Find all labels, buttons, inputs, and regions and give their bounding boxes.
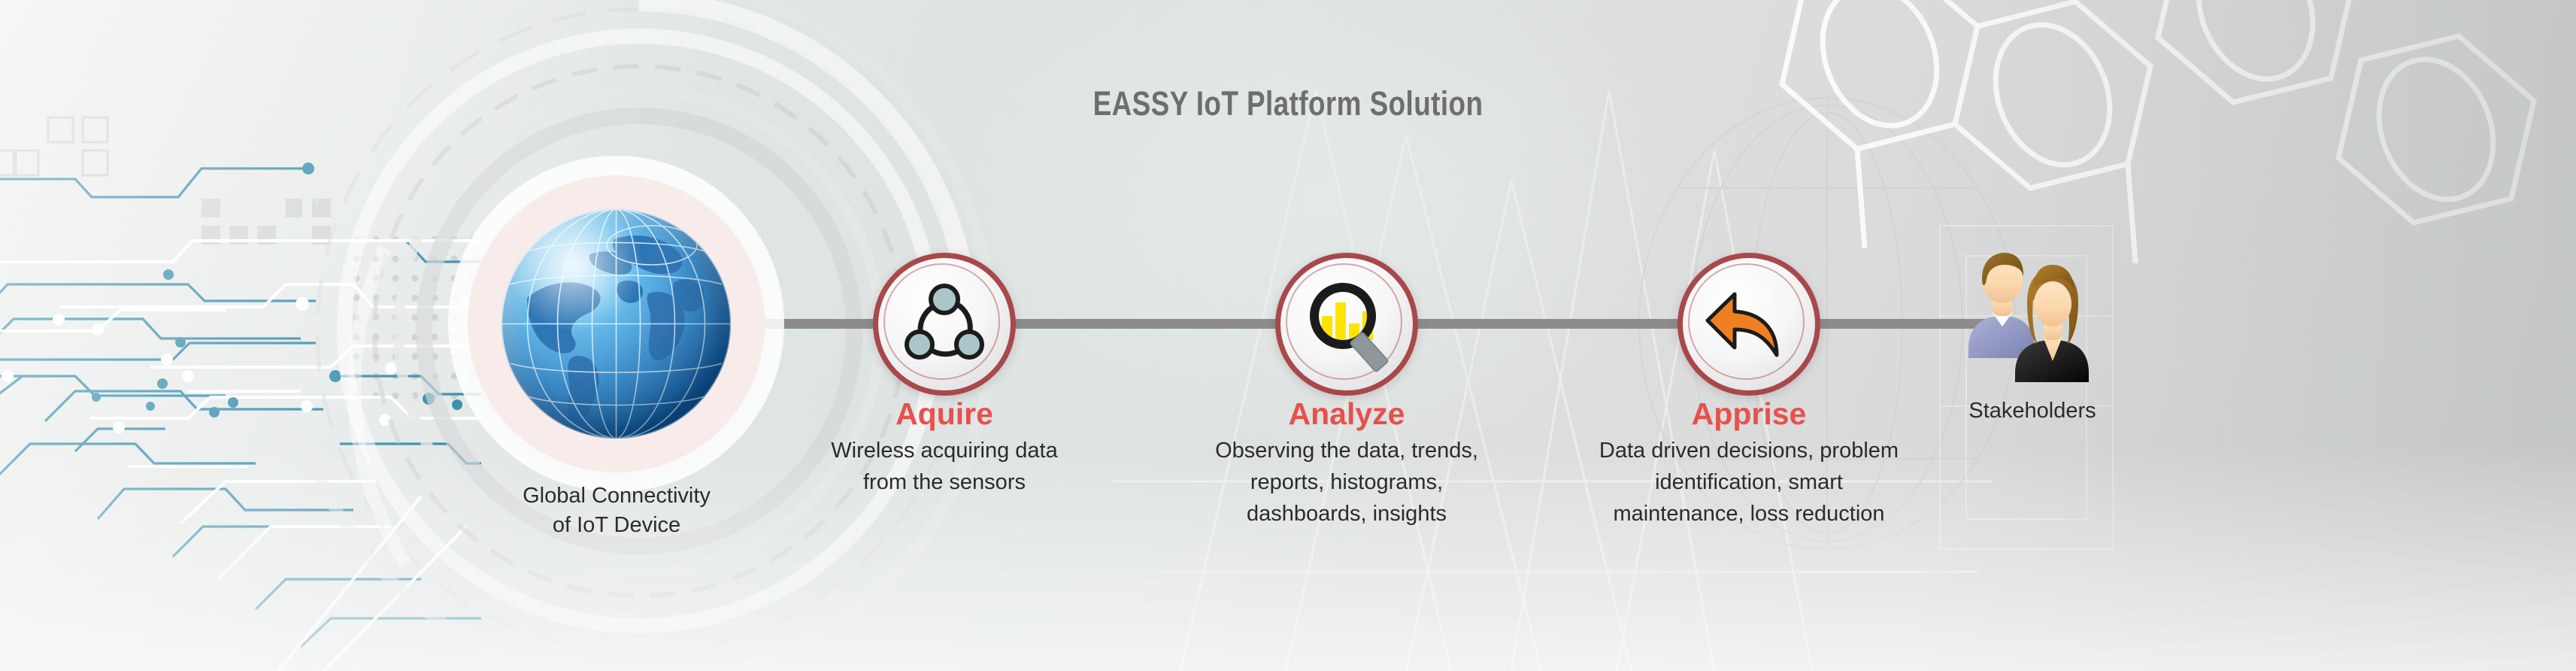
- stage-text-analyze: Analyze Observing the data, trends, repo…: [1136, 397, 1557, 530]
- stage-desc-line-3: maintenance, loss reduction: [1538, 499, 1959, 530]
- connector-rail-analyze-apprise: [1383, 319, 1714, 329]
- globe-label-line-2: of IoT Device: [421, 511, 812, 540]
- stage-node-apprise[interactable]: [1677, 253, 1820, 396]
- stage-node-analyze[interactable]: [1275, 253, 1418, 396]
- stage-desc-line-3: dashboards, insights: [1136, 499, 1557, 530]
- page-title: EASSY IoT Platform Solution: [232, 84, 2344, 123]
- network-share-icon: [894, 274, 995, 375]
- stage-node-aquire[interactable]: [873, 253, 1016, 396]
- stage-desc-line-1: Observing the data, trends,: [1136, 436, 1557, 467]
- stakeholders-label: Stakeholders: [1916, 399, 2149, 424]
- stakeholders-node: Stakeholders: [1946, 244, 2134, 439]
- stage-title: Aquire: [734, 397, 1155, 431]
- stage-desc-line-1: Data driven decisions, problem: [1538, 436, 1959, 467]
- stage-description: Data driven decisions, problem identific…: [1538, 436, 1959, 530]
- connector-rail-aquire-analyze: [977, 319, 1316, 329]
- iot-platform-banner: EASSY IoT Platform Solution: [0, 0, 2576, 671]
- stage-desc-line-1: Wireless acquiring data: [734, 436, 1155, 467]
- stage-desc-line-2: identification, smart: [1538, 467, 1959, 499]
- stage-title: Apprise: [1538, 397, 1959, 431]
- stage-description: Wireless acquiring data from the sensors: [734, 436, 1155, 499]
- globe-icon: [502, 209, 731, 439]
- stage-desc-line-2: reports, histograms,: [1136, 467, 1557, 499]
- stage-title: Analyze: [1136, 397, 1557, 431]
- stage-text-aquire: Aquire Wireless acquiring data from the …: [734, 397, 1155, 499]
- reply-arrow-icon: [1699, 274, 1799, 375]
- magnifier-bar-chart-icon: [1296, 274, 1397, 375]
- people-pair-icon: [1946, 244, 2119, 394]
- globe-node: [468, 175, 765, 472]
- stage-text-apprise: Apprise Data driven decisions, problem i…: [1538, 397, 1959, 530]
- stage-description: Observing the data, trends, reports, his…: [1136, 436, 1557, 530]
- stage-desc-line-2: from the sensors: [734, 467, 1155, 499]
